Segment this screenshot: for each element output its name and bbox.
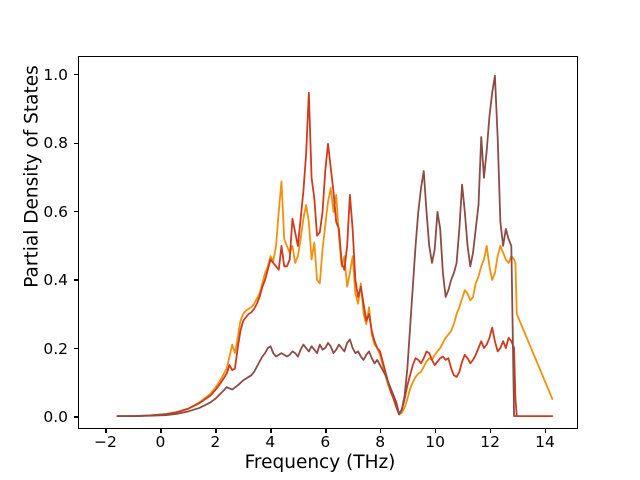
y-tick-mark xyxy=(74,143,78,144)
y-tick-mark xyxy=(74,416,78,417)
figure: Partial Density of States −202468101214 … xyxy=(0,0,640,480)
x-tick-label: 4 xyxy=(265,433,275,451)
x-tick-label: 14 xyxy=(535,433,555,451)
y-tick-mark xyxy=(74,279,78,280)
x-axis-label: Frequency (THz) xyxy=(0,452,640,473)
x-tick-label: 12 xyxy=(480,433,500,451)
plot-area xyxy=(78,56,578,429)
y-tick-label: 0.2 xyxy=(22,340,68,358)
y-tick-label: 0.4 xyxy=(22,271,68,289)
series-line-maroon xyxy=(117,76,515,416)
y-tick-label: 0.6 xyxy=(22,203,68,221)
x-tick-label: 10 xyxy=(425,433,445,451)
x-tick-label: −2 xyxy=(94,433,117,451)
curves-svg xyxy=(79,57,577,428)
y-tick-mark xyxy=(74,211,78,212)
y-tick-label: 0.8 xyxy=(22,134,68,152)
x-tick-label: 0 xyxy=(155,433,165,451)
y-tick-label: 1.0 xyxy=(22,66,68,84)
x-tick-label: 6 xyxy=(320,433,330,451)
y-tick-label: 0.0 xyxy=(22,408,68,426)
x-tick-label: 2 xyxy=(210,433,220,451)
y-tick-mark xyxy=(74,348,78,349)
y-tick-mark xyxy=(74,74,78,75)
x-tick-label: 8 xyxy=(375,433,385,451)
